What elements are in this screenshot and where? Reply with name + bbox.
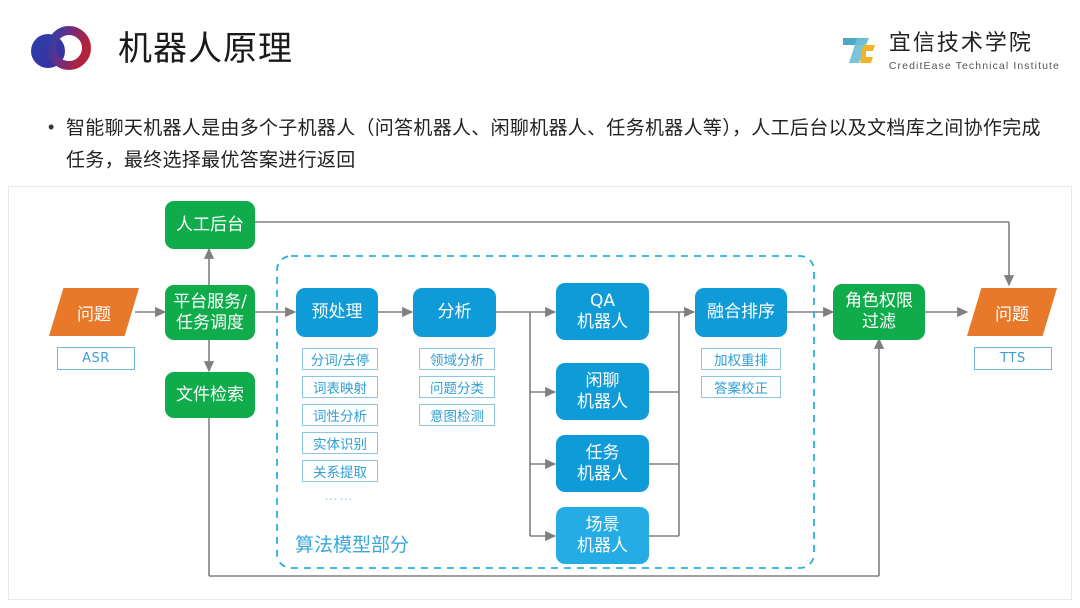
bullet-marker: • — [48, 112, 66, 142]
overlapping-circles-logo — [24, 24, 100, 72]
bullet-text: 智能聊天机器人是由多个子机器人（问答机器人、闲聊机器人、任务机器人等），人工后台… — [66, 112, 1048, 176]
brand-name-en: CreditEase Technical Institute — [889, 59, 1060, 73]
preprocess-item-4[interactable]: 关系提取 — [302, 460, 378, 482]
output-question-label: 问题 — [995, 300, 1029, 325]
brand-lockup: 宜信技术学院 CreditEase Technical Institute — [839, 28, 1060, 76]
analysis-item-1[interactable]: 问题分类 — [419, 376, 495, 398]
node-file-retrieval[interactable]: 文件检索 — [165, 372, 255, 418]
bullet-paragraph: • 智能聊天机器人是由多个子机器人（问答机器人、闲聊机器人、任务机器人等），人工… — [48, 112, 1048, 176]
page-header: 机器人原理 宜信技术学院 CreditEase Technical Instit… — [0, 0, 1080, 92]
architecture-diagram: 问题 ASR 人工后台 平台服务/ 任务调度 文件检索 角色权限 过滤 预处理 … — [8, 186, 1072, 600]
analysis-item-0[interactable]: 领域分析 — [419, 348, 495, 370]
preprocess-item-2[interactable]: 词性分析 — [302, 404, 378, 426]
node-task-robot[interactable]: 任务 机器人 — [556, 435, 649, 492]
page-title: 机器人原理 — [118, 27, 293, 71]
output-question-node: 问题 — [967, 288, 1057, 336]
node-role-permission-filter[interactable]: 角色权限 过滤 — [833, 284, 925, 340]
preprocess-item-3[interactable]: 实体识别 — [302, 432, 378, 454]
fusion-item-1[interactable]: 答案校正 — [701, 376, 781, 398]
node-qa-robot[interactable]: QA 机器人 — [556, 283, 649, 340]
analysis-item-2[interactable]: 意图检测 — [419, 404, 495, 426]
node-human-backend[interactable]: 人工后台 — [165, 201, 255, 249]
input-question-label: 问题 — [77, 300, 111, 325]
node-preprocess[interactable]: 预处理 — [296, 288, 378, 337]
input-question-node: 问题 — [49, 288, 139, 336]
node-fusion-ranking[interactable]: 融合排序 — [695, 288, 787, 337]
brand-name-cn: 宜信技术学院 — [889, 32, 1033, 56]
asr-tag: ASR — [57, 347, 135, 370]
preprocess-item-1[interactable]: 词表映射 — [302, 376, 378, 398]
node-platform-service[interactable]: 平台服务/ 任务调度 — [165, 285, 255, 340]
node-scene-robot[interactable]: 场景 机器人 — [556, 507, 649, 564]
preprocess-ellipsis: …… — [324, 487, 354, 503]
fusion-item-0[interactable]: 加权重排 — [701, 348, 781, 370]
tts-tag: TTS — [974, 347, 1052, 370]
tc-monogram-logo — [839, 33, 881, 72]
algorithm-zone-label: 算法模型部分 — [295, 530, 409, 557]
preprocess-item-0[interactable]: 分词/去停 — [302, 348, 378, 370]
node-analysis[interactable]: 分析 — [413, 288, 496, 337]
node-chitchat-robot[interactable]: 闲聊 机器人 — [556, 363, 649, 420]
